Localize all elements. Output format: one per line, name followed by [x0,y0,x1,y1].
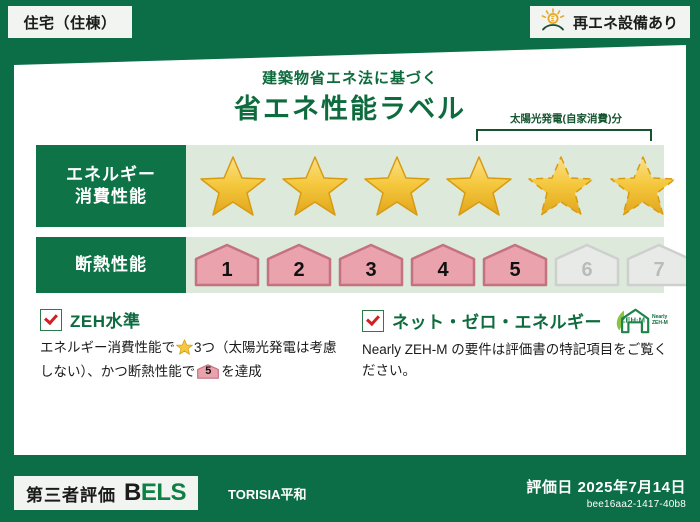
label-card: 建築物省エネ法に基づく 省エネ性能ラベル エネルギー 消費性能 太陽光発電(自家… [14,45,686,455]
zeh-standard-title: ZEH水準 [70,307,141,332]
bels-logo-b: B [124,479,141,506]
insulation-label-text: 断熱性能 [75,254,147,276]
zeh-body-part3: を達成 [221,364,262,379]
inline-house-level-icon: 5 [197,363,219,380]
star-solar-5 [520,150,602,222]
insulation-level-1: 1 [194,243,260,287]
star-filled-3 [356,150,438,222]
insulation-level-2-value: 2 [293,259,304,282]
zeh-body-part1: エネルギー消費性能で [40,340,175,355]
insulation-level-3: 3 [338,243,404,287]
energy-performance-row: エネルギー 消費性能 太陽光発電(自家消費)分 [36,145,664,227]
energy-label-root: 住宅（住棟） 再エネ設備あり 建築物省エネ法に基づく 省エネ性能ラベル [0,0,700,522]
insulation-level-6: 6 [554,243,620,287]
zeh-m-logo: ZEH·M Nearly ZEH-M [614,307,668,334]
zeh-standard-block: ZEH水準 エネルギー消費性能で3つ（太陽光発電は考慮しない）、かつ断熱性能で5… [40,307,340,383]
energy-label-line2: 消費性能 [75,186,147,208]
star-filled-4 [438,150,520,222]
net-zero-body: Nearly ZEH-M の要件は評価書の特記項目をご覧ください。 [362,340,672,382]
zeh-standard-check-icon [40,309,62,331]
insulation-level-2: 2 [266,243,332,287]
evaluation-info: 評価日 2025年7月14日 bee16aa2-1417-40b8 [526,476,686,510]
insulation-level-7: 7 [626,243,692,287]
insulation-level-3-value: 3 [365,259,376,282]
bels-logo-els: ELS [141,479,186,506]
zeh-standard-body: エネルギー消費性能で3つ（太陽光発電は考慮しない）、かつ断熱性能で5を達成 [40,338,340,383]
zeh-standard-header: ZEH水準 [40,307,340,332]
insulation-row-body: 1 2 3 4 [186,237,664,293]
energy-label-line1: エネルギー [66,164,156,186]
star-filled-2 [274,150,356,222]
bels-certification-mark: 第三者評価 BELS [14,476,198,510]
net-zero-title: ネット・ゼロ・エネルギー [392,308,602,333]
evaluation-date-value: 2025年7月14日 [578,479,686,496]
evaluation-date: 評価日 2025年7月14日 [526,476,686,497]
sun-icon [540,8,566,37]
renewable-badge-label: 再エネ設備あり [573,12,678,33]
star-rating [186,145,664,227]
energy-row-body: 太陽光発電(自家消費)分 [186,145,664,227]
insulation-level-scale: 1 2 3 4 [186,237,664,293]
energy-row-label: エネルギー 消費性能 [36,145,186,227]
insulation-level-5-value: 5 [509,259,520,282]
evaluation-date-label: 評価日 [526,479,573,496]
insulation-level-5: 5 [482,243,548,287]
net-zero-energy-block: ネット・ゼロ・エネルギー ZEH·M Nearly ZEH-M Nearl [362,307,672,382]
insulation-level-4-value: 4 [437,259,448,282]
insulation-level-4: 4 [410,243,476,287]
zeh-m-sub-line2: ZEH-M [652,320,668,326]
net-zero-header: ネット・ゼロ・エネルギー ZEH·M Nearly ZEH-M [362,307,672,334]
property-name: TORISIA平和 [228,484,307,503]
insulation-level-7-value: 7 [653,259,664,282]
solar-note-label: 太陽光発電(自家消費)分 [476,111,656,126]
inline-house-level-value: 5 [197,363,219,380]
bels-logo: BELS [124,479,186,507]
label-subtitle: 建築物省エネ法に基づく [14,67,686,88]
insulation-level-1-value: 1 [221,259,232,282]
svg-text:ZEH·M: ZEH·M [621,315,645,324]
insulation-level-6-value: 6 [581,259,592,282]
building-type-tag: 住宅（住棟） [8,6,132,38]
record-id: bee16aa2-1417-40b8 [526,499,686,510]
inline-star-icon [176,339,193,362]
net-zero-check-icon [362,310,384,332]
star-solar-6 [602,150,684,222]
third-party-eval-label: 第三者評価 [26,481,116,506]
solar-bracket [476,129,652,141]
zeh-m-logo-sub: Nearly ZEH-M [652,315,668,326]
insulation-performance-row: 断熱性能 1 2 3 [36,237,664,293]
star-filled-1 [192,150,274,222]
renewable-energy-badge: 再エネ設備あり [530,6,690,38]
insulation-row-label: 断熱性能 [36,237,186,293]
